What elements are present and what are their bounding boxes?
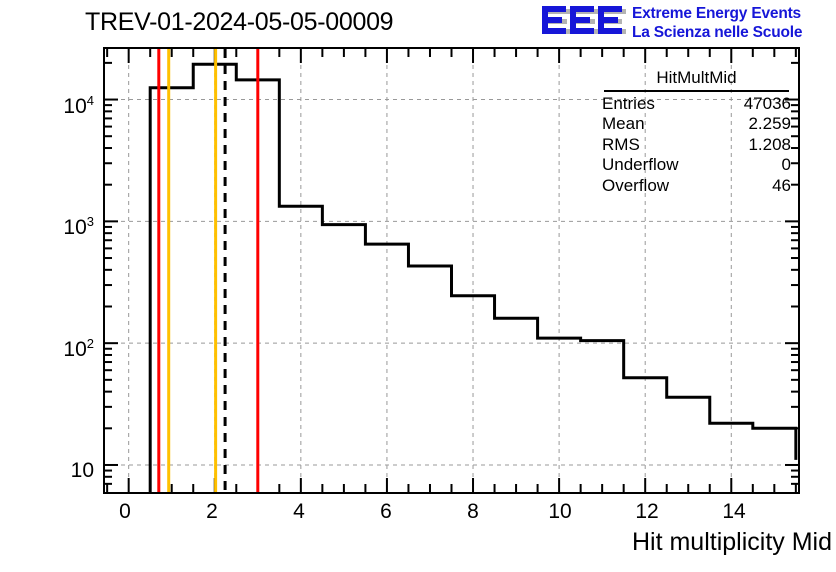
stats-value-overflow: 46 bbox=[772, 176, 791, 197]
eee-logo-text: Extreme Energy Events La Scienza nelle S… bbox=[632, 4, 802, 42]
stats-row-mean: Mean 2.259 bbox=[598, 114, 795, 135]
stats-title: HitMultMid bbox=[598, 68, 795, 90]
stats-value-mean: 2.259 bbox=[748, 114, 791, 135]
eee-logo-mark-icon bbox=[540, 5, 626, 39]
x-tick-label-4: 4 bbox=[279, 500, 319, 524]
x-tick-label-0: 0 bbox=[105, 500, 145, 524]
stats-key-entries: Entries bbox=[602, 94, 655, 115]
eee-logo-line1: Extreme Energy Events bbox=[632, 4, 802, 23]
stats-key-overflow: Overflow bbox=[602, 176, 669, 197]
stats-value-rms: 1.208 bbox=[748, 135, 791, 156]
x-tick-label-2: 2 bbox=[192, 500, 232, 524]
plot-title: TREV-01-2024-05-05-00009 bbox=[85, 8, 393, 37]
stats-value-underflow: 0 bbox=[782, 155, 791, 176]
stats-value-entries: 47036 bbox=[744, 94, 791, 115]
x-tick-label-6: 6 bbox=[366, 500, 406, 524]
x-tick-label-8: 8 bbox=[453, 500, 493, 524]
stats-row-overflow: Overflow 46 bbox=[598, 176, 795, 197]
stats-key-rms: RMS bbox=[602, 135, 640, 156]
y-tick-label-1e2: 102 bbox=[42, 336, 94, 362]
stats-key-underflow: Underflow bbox=[602, 155, 679, 176]
stats-row-rms: RMS 1.208 bbox=[598, 135, 795, 156]
stats-box: HitMultMid Entries 47036 Mean 2.259 RMS … bbox=[598, 68, 795, 196]
x-tick-label-14: 14 bbox=[714, 500, 754, 524]
root-canvas: TREV-01-2024-05-05-00009 bbox=[0, 0, 836, 572]
eee-logo: Extreme Energy Events La Scienza nelle S… bbox=[540, 3, 832, 45]
stats-row-entries: Entries 47036 bbox=[598, 94, 795, 115]
stats-divider bbox=[604, 90, 789, 92]
x-tick-label-10: 10 bbox=[540, 500, 580, 524]
y-tick-label-10: 10 bbox=[42, 459, 94, 483]
x-tick-label-12: 12 bbox=[627, 500, 667, 524]
y-tick-label-1e3: 103 bbox=[42, 214, 94, 240]
stats-key-mean: Mean bbox=[602, 114, 645, 135]
y-tick-label-1e4: 104 bbox=[42, 93, 94, 119]
x-axis-title: Hit multiplicity Mid bbox=[632, 528, 832, 557]
stats-row-underflow: Underflow 0 bbox=[598, 155, 795, 176]
eee-logo-line2: La Scienza nelle Scuole bbox=[632, 23, 802, 42]
